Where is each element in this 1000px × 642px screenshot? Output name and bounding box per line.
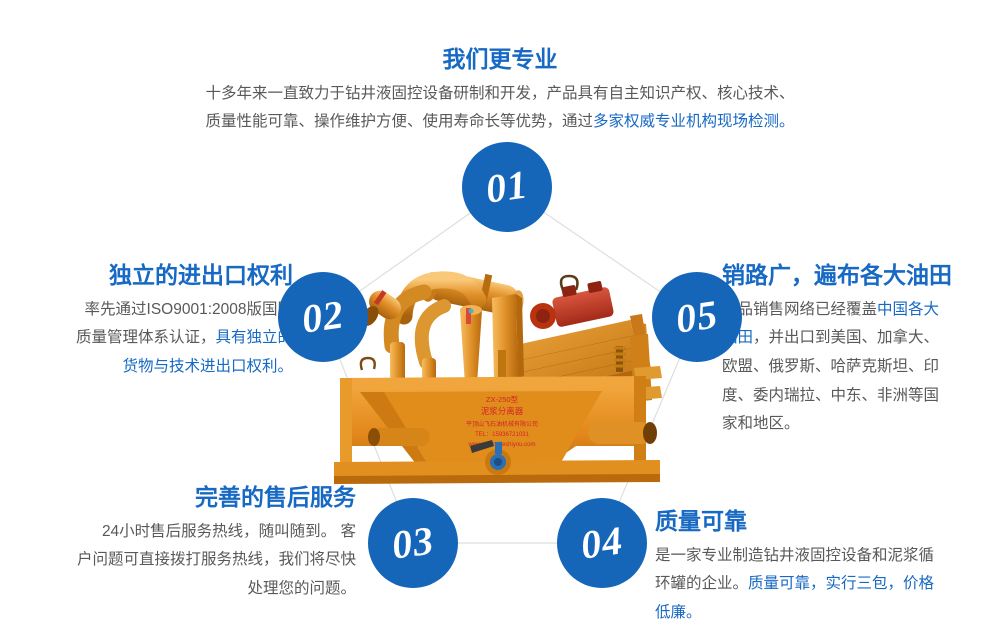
step-number-label: 04 bbox=[578, 520, 625, 565]
step-number-label: 01 bbox=[483, 164, 530, 209]
section-01-heading: 我们更专业 bbox=[150, 46, 850, 74]
svg-text:平顶山飞石油机械有限公司: 平顶山飞石油机械有限公司 bbox=[466, 420, 538, 428]
section-05-body: 产品销售网络已经覆盖中国各大 油田，并出口到美国、加拿大、 欧盟、俄罗斯、哈萨克… bbox=[722, 296, 990, 439]
section-03-text: 完善的售后服务 24小时售后服务热线，随叫随到。 客 户问题可直接拨打服务热线，… bbox=[16, 484, 356, 604]
outlet-pipe-right bbox=[588, 422, 657, 444]
section-02-text: 独立的进出口权利 率先通过ISO9001:2008版国际 质量管理体系认证，具有… bbox=[18, 262, 293, 382]
text-run: 产品销售网络已经覆盖 bbox=[722, 301, 877, 318]
text-run-highlight: 中国各大 bbox=[877, 301, 939, 318]
section-02-heading: 独立的进出口权利 bbox=[18, 262, 293, 290]
machine-illustration: ZX-250型 泥浆分离器 平顶山飞石油机械有限公司 TEL：159367210… bbox=[330, 250, 670, 490]
section-04-text: 质量可靠 是一家专业制造钻井液固控设备和泥浆循 环罐的企业。质量可靠，实行三包，… bbox=[655, 508, 990, 628]
section-02-line-1: 率先通过ISO9001:2008版国际 bbox=[18, 296, 293, 325]
text-run: 率先通过ISO9001:2008版国际 bbox=[85, 301, 293, 318]
section-05-heading: 销路广，遍布各大油田 bbox=[722, 262, 990, 290]
svg-text:泥浆分离器: 泥浆分离器 bbox=[481, 406, 524, 416]
outlet-pipe-left bbox=[368, 428, 430, 446]
text-run: 家和地区。 bbox=[722, 415, 800, 432]
section-05-text: 销路广，遍布各大油田 产品销售网络已经覆盖中国各大 油田，并出口到美国、加拿大、… bbox=[722, 262, 990, 439]
step-circle-03[interactable]: 03 bbox=[368, 498, 458, 588]
text-run: 度、委内瑞拉、中东、非洲等国 bbox=[722, 387, 939, 404]
section-02-line-2: 质量管理体系认证，具有独立的 bbox=[18, 324, 293, 353]
section-05-line-5: 家和地区。 bbox=[722, 410, 990, 439]
text-run: 质量性能可靠、操作维护方便、使用寿命长等优势，通过 bbox=[205, 113, 593, 130]
text-run: 户问题可直接拨打服务热线，我们将尽快 bbox=[77, 551, 356, 568]
section-05-line-2: 油田，并出口到美国、加拿大、 bbox=[722, 324, 990, 353]
section-01-text: 我们更专业 十多年来一直致力于钻井液固控设备研制和开发，产品具有自主知识产权、核… bbox=[150, 46, 850, 137]
step-number-label: 05 bbox=[673, 294, 720, 339]
section-03-line-3: 处理您的问题。 bbox=[16, 575, 356, 604]
section-04-line-2: 环罐的企业。质量可靠，实行三包，价格 bbox=[655, 570, 990, 599]
text-run-highlight: 质量可靠，实行三包，价格 bbox=[748, 575, 934, 592]
section-05-line-3: 欧盟、俄罗斯、哈萨克斯坦、印 bbox=[722, 353, 990, 382]
text-run: 质量管理体系认证， bbox=[76, 329, 216, 346]
text-run: 欧盟、俄罗斯、哈萨克斯坦、印 bbox=[722, 358, 939, 375]
text-run: ，并出口到美国、加拿大、 bbox=[753, 329, 939, 346]
text-run-highlight: 货物与技术进出口权利。 bbox=[122, 358, 293, 375]
section-03-line-2: 户问题可直接拨打服务热线，我们将尽快 bbox=[16, 546, 356, 575]
section-05-line-1: 产品销售网络已经覆盖中国各大 bbox=[722, 296, 990, 325]
text-run: 是一家专业制造钻井液固控设备和泥浆循 bbox=[655, 547, 934, 564]
feed-chute bbox=[492, 294, 524, 380]
vibrator-motor bbox=[530, 276, 614, 329]
section-02-body: 率先通过ISO9001:2008版国际 质量管理体系认证，具有独立的 货物与技术… bbox=[18, 296, 293, 382]
text-run: 处理您的问题。 bbox=[247, 580, 356, 597]
section-02-line-3: 货物与技术进出口权利。 bbox=[18, 353, 293, 382]
section-01-line-1: 十多年来一直致力于钻井液固控设备研制和开发，产品具有自主知识产权、核心技术、 bbox=[150, 80, 850, 109]
section-03-body: 24小时售后服务热线，随叫随到。 客 户问题可直接拨打服务热线，我们将尽快 处理… bbox=[16, 518, 356, 604]
infographic-canvas: ZX-250型 泥浆分离器 平顶山飞石油机械有限公司 TEL：159367210… bbox=[0, 0, 1000, 642]
svg-text:ZX-250型: ZX-250型 bbox=[486, 395, 519, 404]
section-04-line-1: 是一家专业制造钻井液固控设备和泥浆循 bbox=[655, 542, 990, 571]
svg-text:TEL：15936721031: TEL：15936721031 bbox=[475, 432, 529, 438]
section-01-line-2: 质量性能可靠、操作维护方便、使用寿命长等优势，通过多家权威专业机构现场检测。 bbox=[150, 108, 850, 137]
step-circle-04[interactable]: 04 bbox=[557, 498, 647, 588]
section-01-body: 十多年来一直致力于钻井液固控设备研制和开发，产品具有自主知识产权、核心技术、 质… bbox=[150, 80, 850, 137]
step-number-label: 02 bbox=[299, 294, 346, 339]
step-circle-01[interactable]: 01 bbox=[462, 142, 552, 232]
section-04-body: 是一家专业制造钻井液固控设备和泥浆循 环罐的企业。质量可靠，实行三包，价格 低廉… bbox=[655, 542, 990, 628]
section-05-line-4: 度、委内瑞拉、中东、非洲等国 bbox=[722, 382, 990, 411]
section-04-line-3: 低廉。 bbox=[655, 599, 990, 628]
text-run: 十多年来一直致力于钻井液固控设备研制和开发，产品具有自主知识产权、核心技术、 bbox=[205, 85, 794, 102]
text-run: 环罐的企业。 bbox=[655, 575, 748, 592]
section-03-line-1: 24小时售后服务热线，随叫随到。 客 bbox=[16, 518, 356, 547]
text-run: 24小时售后服务热线，随叫随到。 客 bbox=[86, 523, 356, 540]
text-run-highlight: 多家权威专业机构现场检测。 bbox=[593, 113, 795, 130]
section-03-heading: 完善的售后服务 bbox=[16, 484, 356, 512]
text-run-highlight: 低廉。 bbox=[655, 604, 702, 621]
section-04-heading: 质量可靠 bbox=[655, 508, 990, 536]
step-circle-02[interactable]: 02 bbox=[278, 272, 368, 362]
step-circle-05[interactable]: 05 bbox=[652, 272, 742, 362]
step-number-label: 03 bbox=[389, 520, 436, 565]
